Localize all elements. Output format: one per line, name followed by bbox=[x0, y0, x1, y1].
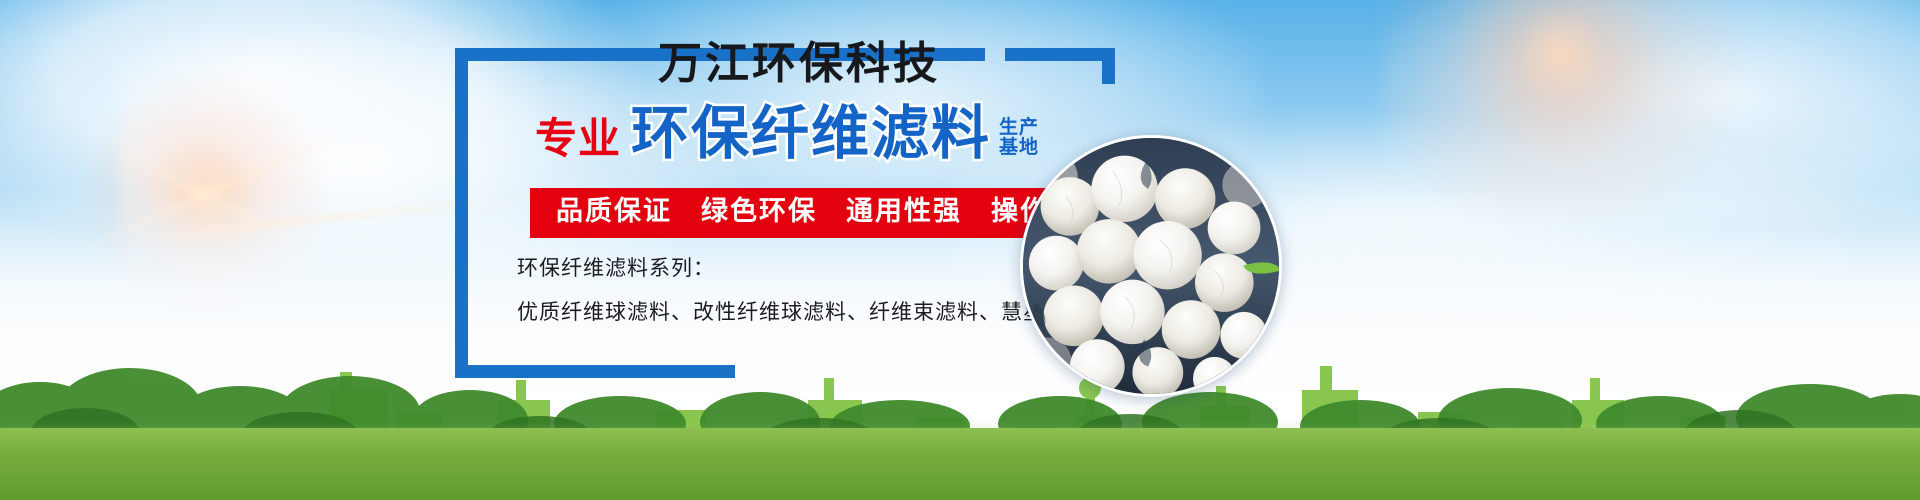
headline-main: 环保纤维滤料 bbox=[631, 104, 991, 162]
sun-flare-icon bbox=[1320, 0, 1800, 220]
fiber-balls-image bbox=[1023, 138, 1279, 394]
headline-prefix: 专业 bbox=[535, 118, 621, 162]
promo-banner: 万江环保科技 专业 环保纤维滤料 生产 基地 品质保证 绿色环保 通用性强 操作… bbox=[0, 0, 1920, 500]
description-title: 环保纤维滤料系列： bbox=[517, 252, 715, 282]
product-photo bbox=[1020, 135, 1282, 397]
headline-group: 专业 环保纤维滤料 生产 基地 bbox=[535, 104, 1039, 162]
company-name: 万江环保科技 bbox=[658, 42, 940, 86]
